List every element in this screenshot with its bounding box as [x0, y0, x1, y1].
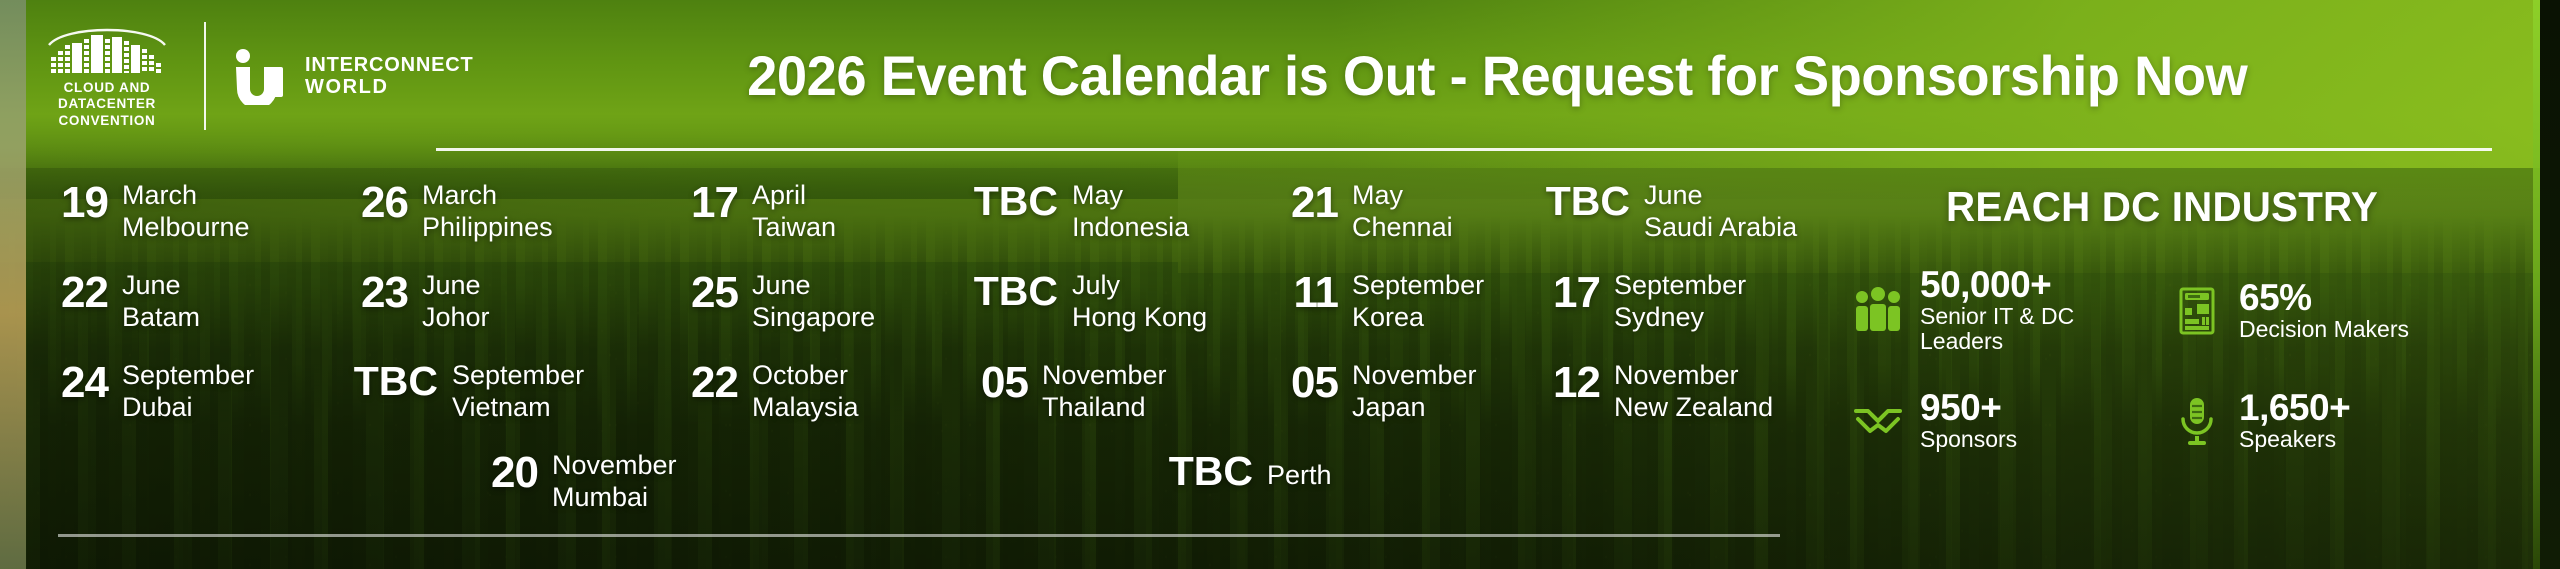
event-month: March — [422, 180, 497, 210]
event-text: November Japan — [1352, 358, 1477, 424]
event-month: November — [1042, 360, 1167, 390]
stat-value: 65% — [2239, 279, 2409, 317]
bottom-rule — [58, 534, 1780, 537]
event-location: New Zealand — [1614, 392, 1773, 424]
headline-container: 2026 Event Calendar is Out - Request for… — [474, 48, 2560, 104]
reach-stats-panel: REACH DC INDUSTRY 50,000+ Senior IT & DC… — [1852, 186, 2472, 453]
iw-line2: WORLD — [305, 76, 474, 98]
event-day: 12 — [1538, 358, 1600, 404]
microphone-icon — [2171, 395, 2223, 447]
event-location: Batam — [122, 302, 200, 334]
event-day: TBC — [1538, 178, 1630, 221]
event-text: March Philippines — [422, 178, 553, 244]
interconnect-world-wordmark: INTERCONNECT WORLD — [305, 54, 474, 99]
calendar-entry[interactable]: 05 November Japan — [1276, 358, 1538, 424]
event-text: September Korea — [1352, 268, 1484, 334]
stats-grid: 50,000+ Senior IT & DC Leaders — [1852, 266, 2472, 453]
event-month: March — [122, 180, 197, 210]
event-day: 21 — [1276, 178, 1338, 224]
stat-text: 1,650+ Speakers — [2239, 389, 2350, 452]
cdc-logo-line3: CONVENTION — [58, 113, 155, 128]
event-day: 17 — [676, 178, 738, 224]
server-rack-icon — [2171, 285, 2223, 337]
stat-item: 65% Decision Makers — [2171, 266, 2472, 355]
logo-divider — [204, 22, 206, 130]
calendar-entry[interactable]: 17 September Sydney — [1538, 268, 1868, 334]
event-text: June Singapore — [752, 268, 875, 334]
event-month: June — [752, 270, 811, 300]
event-month: October — [752, 360, 848, 390]
event-location: Melbourne — [122, 212, 250, 244]
stat-label: Senior IT & DC Leaders — [1920, 304, 2153, 356]
event-text: October Malaysia — [752, 358, 859, 424]
event-text: November Mumbai — [552, 448, 677, 514]
event-location: Mumbai — [552, 482, 677, 514]
event-day: 19 — [46, 178, 108, 224]
event-text: November Thailand — [1042, 358, 1167, 424]
calendar-entry[interactable]: 19 March Melbourne — [46, 178, 346, 244]
event-day: 25 — [676, 268, 738, 314]
event-day: 05 — [966, 358, 1028, 404]
event-location: Vietnam — [452, 392, 584, 424]
calendar-entry[interactable]: 12 November New Zealand — [1538, 358, 1868, 424]
event-location: Thailand — [1042, 392, 1167, 424]
event-location: Sydney — [1614, 302, 1746, 334]
event-location: Taiwan — [752, 212, 836, 244]
calendar-entry[interactable]: 23 June Johor — [346, 268, 676, 334]
stat-item: 50,000+ Senior IT & DC Leaders — [1852, 266, 2153, 355]
event-text: September Vietnam — [452, 358, 584, 424]
event-text: Perth — [1267, 448, 1332, 492]
event-month: September — [1352, 270, 1484, 300]
calendar-entry[interactable]: 11 September Korea — [1276, 268, 1538, 334]
calendar-entry[interactable]: 05 November Thailand — [966, 358, 1276, 424]
event-text: May Chennai — [1352, 178, 1453, 244]
event-month: September — [122, 360, 254, 390]
stat-item: 950+ Sponsors — [1852, 389, 2153, 452]
event-day: TBC — [1161, 448, 1253, 491]
event-location: Saudi Arabia — [1644, 212, 1797, 244]
event-text: November New Zealand — [1614, 358, 1773, 424]
event-month: June — [122, 270, 181, 300]
calendar-row: 22 June Batam 23 June Johor 25 — [46, 268, 1876, 358]
event-day: TBC — [966, 178, 1058, 221]
event-month: November — [552, 450, 677, 480]
calendar-entry[interactable]: 22 October Malaysia — [676, 358, 966, 424]
calendar-entry[interactable]: TBC Perth — [1161, 448, 1491, 492]
event-month: September — [452, 360, 584, 390]
event-text: May Indonesia — [1072, 178, 1189, 244]
calendar-row: 19 March Melbourne 26 March Philippines … — [46, 178, 1876, 268]
stat-value: 950+ — [1920, 389, 2017, 427]
calendar-entry[interactable]: 17 April Taiwan — [676, 178, 966, 244]
calendar-row: 20 November Mumbai TBC Perth — [46, 448, 1876, 508]
calendar-entry[interactable]: 26 March Philippines — [346, 178, 676, 244]
event-text: September Sydney — [1614, 268, 1746, 334]
calendar-row: 24 September Dubai TBC September Vietnam… — [46, 358, 1876, 448]
event-day: TBC — [966, 268, 1058, 311]
event-month: Perth — [1267, 460, 1332, 490]
people-group-icon — [1852, 285, 1904, 337]
event-text: July Hong Kong — [1072, 268, 1207, 334]
event-location: Indonesia — [1072, 212, 1189, 244]
event-day: 05 — [1276, 358, 1338, 404]
calendar-entry[interactable]: 24 September Dubai — [46, 358, 346, 424]
stat-item: 1,650+ Speakers — [2171, 389, 2472, 452]
stat-label: Decision Makers — [2239, 317, 2409, 343]
banner-headline: 2026 Event Calendar is Out - Request for… — [524, 48, 2470, 104]
calendar-entry[interactable]: 20 November Mumbai — [476, 448, 916, 514]
event-location: Malaysia — [752, 392, 859, 424]
datacenter-bars-icon — [43, 23, 171, 75]
event-day: 22 — [46, 268, 108, 314]
event-day: 22 — [676, 358, 738, 404]
calendar-entry[interactable]: TBC September Vietnam — [346, 358, 676, 424]
stat-value: 1,650+ — [2239, 389, 2350, 427]
stat-text: 65% Decision Makers — [2239, 279, 2409, 342]
cdc-logo-text: CLOUD AND DATACENTER CONVENTION — [58, 80, 156, 129]
event-day: 20 — [476, 448, 538, 494]
stat-label: Speakers — [2239, 427, 2350, 453]
event-month: April — [752, 180, 806, 210]
event-location: Korea — [1352, 302, 1484, 334]
event-day: TBC — [346, 358, 438, 401]
banner-header: CLOUD AND DATACENTER CONVENTION INTERCON… — [0, 0, 2560, 152]
stat-text: 950+ Sponsors — [1920, 389, 2017, 452]
iw-line1: INTERCONNECT — [305, 54, 474, 76]
event-location: Philippines — [422, 212, 553, 244]
event-calendar-grid: 19 March Melbourne 26 March Philippines … — [46, 178, 1876, 508]
calendar-entry[interactable]: TBC May Indonesia — [966, 178, 1276, 244]
event-text: June Johor — [422, 268, 490, 334]
event-day: 26 — [346, 178, 408, 224]
event-location: Johor — [422, 302, 490, 334]
event-month: November — [1352, 360, 1477, 390]
event-text: June Batam — [122, 268, 200, 334]
headline-underline-rule — [436, 148, 2492, 151]
event-day: 11 — [1276, 268, 1338, 314]
event-month: July — [1072, 270, 1120, 300]
event-location: Dubai — [122, 392, 254, 424]
calendar-entry[interactable]: 25 June Singapore — [676, 268, 966, 334]
event-day: 17 — [1538, 268, 1600, 314]
event-month: May — [1072, 180, 1123, 210]
calendar-entry[interactable]: TBC June Saudi Arabia — [1538, 178, 1868, 244]
logo-lockup: CLOUD AND DATACENTER CONVENTION INTERCON… — [0, 22, 474, 130]
event-month: November — [1614, 360, 1739, 390]
event-text: April Taiwan — [752, 178, 836, 244]
stat-text: 50,000+ Senior IT & DC Leaders — [1920, 266, 2153, 355]
calendar-entry[interactable]: 21 May Chennai — [1276, 178, 1538, 244]
handshake-icon — [1852, 395, 1904, 447]
event-day: 23 — [346, 268, 408, 314]
event-text: September Dubai — [122, 358, 254, 424]
cdc-logo-line2: DATACENTER — [58, 96, 156, 111]
interconnect-world-logo[interactable]: INTERCONNECT WORLD — [232, 47, 474, 105]
event-location: Singapore — [752, 302, 875, 334]
calendar-entry[interactable]: TBC July Hong Kong — [966, 268, 1276, 334]
stats-panel-title: REACH DC INDUSTRY — [1864, 186, 2459, 228]
event-text: March Melbourne — [122, 178, 250, 244]
event-month: June — [1644, 180, 1703, 210]
event-location: Chennai — [1352, 212, 1453, 244]
cloud-datacenter-convention-logo[interactable]: CLOUD AND DATACENTER CONVENTION — [36, 23, 178, 129]
event-text: June Saudi Arabia — [1644, 178, 1797, 244]
calendar-entry[interactable]: 22 June Batam — [46, 268, 346, 334]
event-day: 24 — [46, 358, 108, 404]
event-location: Japan — [1352, 392, 1477, 424]
iu-monogram-icon — [232, 47, 292, 105]
cdc-logo-line1: CLOUD AND — [64, 80, 151, 95]
event-location: Hong Kong — [1072, 302, 1207, 334]
event-month: September — [1614, 270, 1746, 300]
stat-value: 50,000+ — [1920, 266, 2153, 304]
stat-label: Sponsors — [1920, 427, 2017, 453]
event-calendar-banner: CLOUD AND DATACENTER CONVENTION INTERCON… — [0, 0, 2560, 569]
event-month: May — [1352, 180, 1403, 210]
event-month: June — [422, 270, 481, 300]
